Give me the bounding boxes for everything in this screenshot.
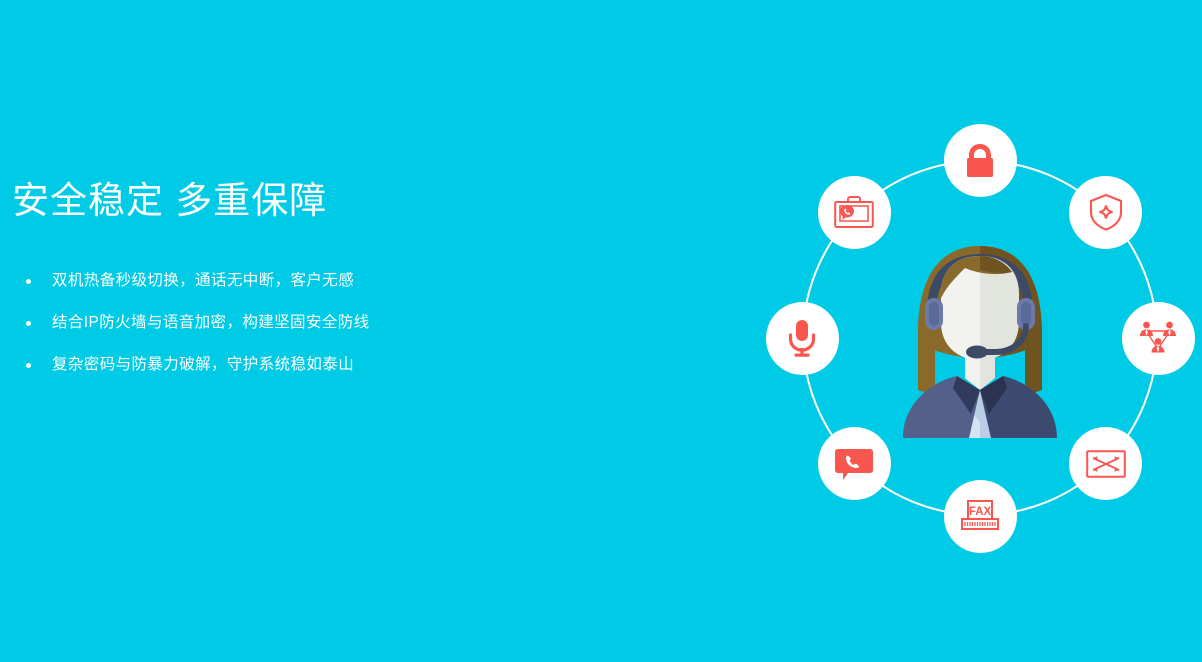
list-item: 结合IP防火墙与语音加密，构建坚固安全防线 bbox=[12, 302, 712, 344]
microphone-icon bbox=[787, 319, 817, 357]
list-item: 双机热备秒级切换，通话无中断，客户无感 bbox=[12, 260, 712, 302]
group-conference-icon bbox=[1138, 319, 1178, 357]
node-shuffle[interactable] bbox=[1069, 427, 1142, 500]
fax-machine-icon: FAX bbox=[959, 499, 1001, 533]
fax-label: FAX bbox=[969, 506, 992, 518]
briefcase-phone-icon bbox=[834, 195, 874, 229]
text-content-block: 安全稳定 多重保障 双机热备秒级切换，通话无中断，客户无感 结合IP防火墙与语音… bbox=[12, 178, 712, 386]
node-briefcase[interactable] bbox=[818, 176, 891, 249]
feature-text: 结合IP防火墙与语音加密，构建坚固安全防线 bbox=[52, 314, 370, 331]
feature-graphic: FAX bbox=[730, 88, 1202, 588]
node-fax[interactable]: FAX bbox=[944, 480, 1017, 553]
feature-text: 复杂密码与防暴力破解，守护系统稳如泰山 bbox=[52, 356, 354, 373]
node-group[interactable] bbox=[1122, 302, 1195, 375]
page-title: 安全稳定 多重保障 bbox=[12, 178, 712, 224]
bullet-dot-icon bbox=[26, 321, 31, 326]
call-center-operator-illustration bbox=[885, 238, 1075, 438]
node-lock[interactable] bbox=[944, 124, 1017, 197]
call-transfer-shuffle-icon bbox=[1086, 450, 1126, 478]
list-item: 复杂密码与防暴力破解，守护系统稳如泰山 bbox=[12, 344, 712, 386]
node-microphone[interactable] bbox=[766, 302, 839, 375]
chat-bubble-phone-icon bbox=[834, 446, 874, 482]
feature-list: 双机热备秒级切换，通话无中断，客户无感 结合IP防火墙与语音加密，构建坚固安全防… bbox=[12, 260, 712, 386]
shield-star-icon bbox=[1088, 193, 1124, 231]
bullet-dot-icon bbox=[26, 279, 31, 284]
node-shield[interactable] bbox=[1069, 176, 1142, 249]
lock-icon bbox=[963, 142, 997, 178]
feature-text: 双机热备秒级切换，通话无中断，客户无感 bbox=[52, 272, 354, 289]
bullet-dot-icon bbox=[26, 363, 31, 368]
node-chat-call[interactable] bbox=[818, 427, 891, 500]
security-feature-banner: 安全稳定 多重保障 双机热备秒级切换，通话无中断，客户无感 结合IP防火墙与语音… bbox=[0, 0, 1202, 662]
